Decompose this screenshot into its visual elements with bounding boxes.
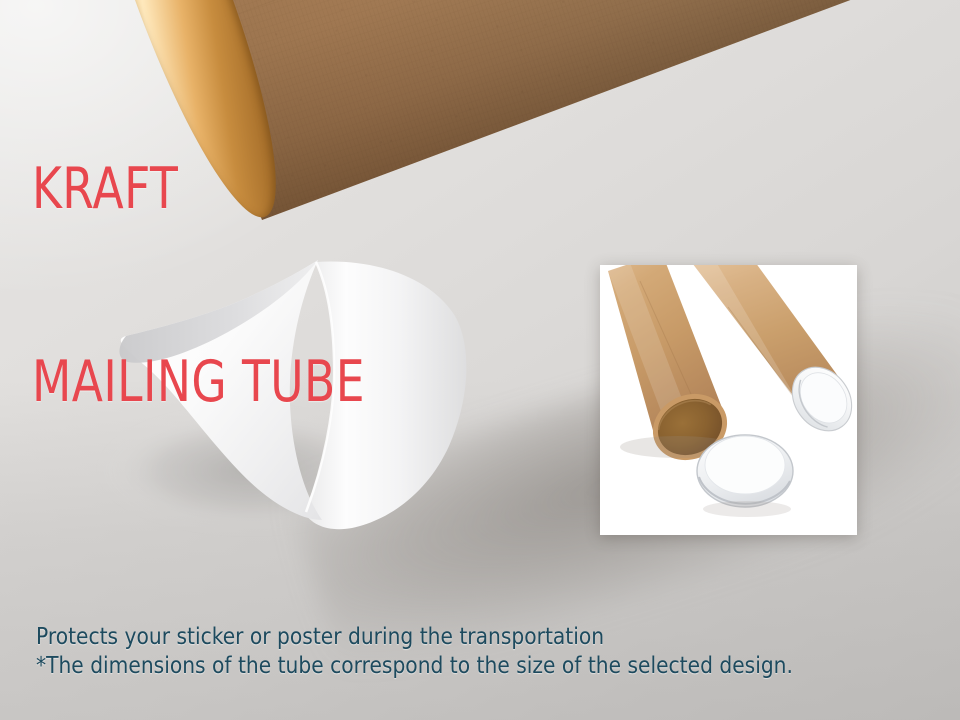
- inset-loose-end-cap: [697, 435, 793, 517]
- headline-line-1: KRAFT: [32, 157, 365, 221]
- footnote-text: *The dimensions of the tube correspond t…: [36, 652, 793, 682]
- headline-line-2: MAILING TUBE: [32, 350, 365, 414]
- inset-photo-artwork: [600, 265, 857, 535]
- feature-line-1: Protects your sticker or poster during t…: [36, 621, 657, 654]
- feature-description: Protects your sticker or poster during t…: [36, 556, 657, 720]
- product-photo-inset[interactable]: [600, 265, 857, 535]
- page-title: KRAFT MAILING TUBE: [32, 28, 365, 543]
- promo-banner: KRAFT MAILING TUBE Protects your sticker…: [0, 0, 960, 720]
